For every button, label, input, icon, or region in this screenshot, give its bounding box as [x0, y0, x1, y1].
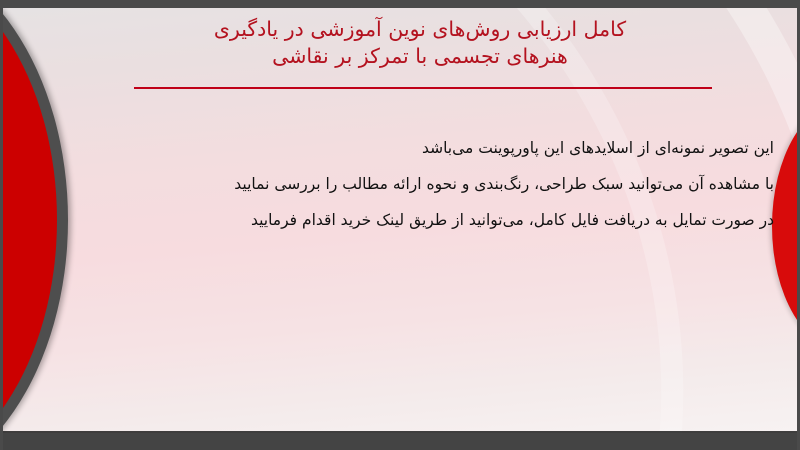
body-line-2: با مشاهده آن می‌توانید سبک طراحی، رنگ‌بن…: [74, 166, 774, 202]
body-line-1: این تصویر نمونه‌ای از اسلایدهای این پاور…: [74, 130, 774, 166]
slide-frame-top: [0, 0, 800, 8]
slide-title: کامل ارزیابی روش‌های نوین آموزشی در یادگ…: [120, 16, 720, 70]
slide-title-line-2: هنرهای تجسمی با تمرکز بر نقاشی: [120, 43, 720, 70]
body-line-3: در صورت تمایل به دریافت فایل کامل، می‌تو…: [74, 202, 774, 238]
presentation-slide: کامل ارزیابی روش‌های نوین آموزشی در یادگ…: [0, 0, 800, 450]
slide-frame-left: [0, 0, 3, 450]
right-red-ellipse-shape: [772, 100, 800, 352]
title-underline-rule: [134, 87, 712, 89]
left-red-lens-shape: [0, 8, 68, 433]
slide-body-text: این تصویر نمونه‌ای از اسلایدهای این پاور…: [74, 130, 774, 238]
slide-title-line-1: کامل ارزیابی روش‌های نوین آموزشی در یادگ…: [120, 16, 720, 43]
slide-frame-bottom: [0, 433, 800, 450]
slide-canvas: کامل ارزیابی روش‌های نوین آموزشی در یادگ…: [0, 8, 800, 433]
